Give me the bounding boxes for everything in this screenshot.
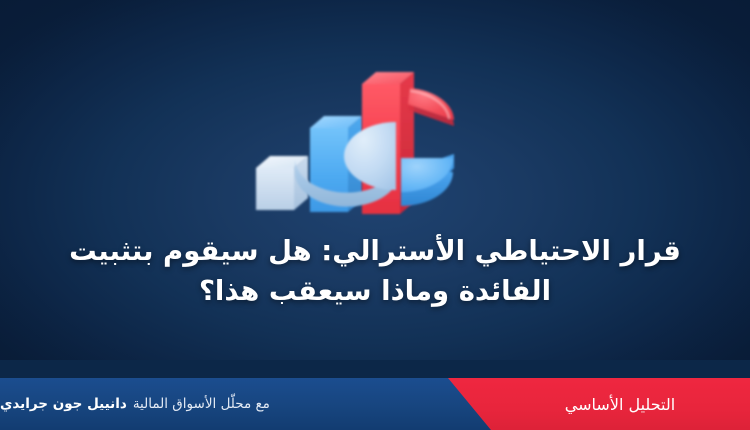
footer-bar: مع محلّل الأسواق المالية دانييل جون جراي…	[0, 378, 750, 430]
category-label: التحليل الأساسي	[565, 395, 675, 414]
chart-illustration	[248, 52, 518, 232]
footer-dark-strip	[0, 360, 750, 378]
headline-line-2: الفائدة وماذا سيعقب هذا؟	[40, 272, 710, 312]
footer-category: التحليل الأساسي	[490, 378, 750, 430]
headline-line-1: قرار الاحتياطي الأسترالي: هل سيقوم بتثبي…	[40, 232, 710, 272]
pie-slice-red-exploded	[408, 88, 454, 126]
footer-byline: مع محلّل الأسواق المالية دانييل جون جراي…	[0, 378, 430, 430]
byline-lead: مع محلّل الأسواق المالية	[133, 396, 270, 412]
page-title: قرار الاحتياطي الأسترالي: هل سيقوم بتثبي…	[40, 232, 710, 311]
analyst-name: دانييل جون جرايدي	[0, 396, 127, 412]
pie-slice-blue	[401, 154, 454, 206]
promo-card: قرار الاحتياطي الأسترالي: هل سيقوم بتثبي…	[0, 0, 750, 430]
